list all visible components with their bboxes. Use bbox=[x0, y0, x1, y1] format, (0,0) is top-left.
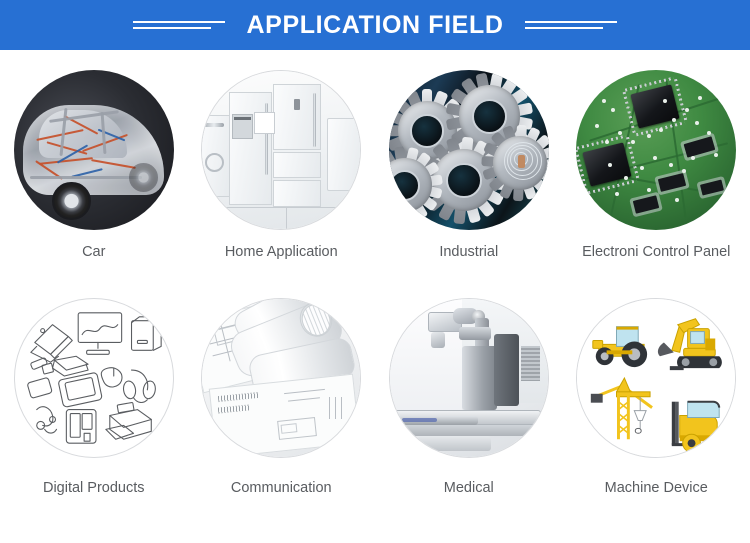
refrigerator-appliance-photo bbox=[201, 70, 361, 230]
double-line-rule-icon bbox=[525, 19, 617, 31]
gallery-item-home-application[interactable]: Home Application bbox=[188, 70, 376, 310]
car-wiring-harness-photo bbox=[14, 70, 174, 230]
x-ray-imaging-machine-photo bbox=[389, 298, 549, 458]
gallery-item-label: Electroni Control Panel bbox=[582, 244, 730, 261]
gallery-item-label: Home Application bbox=[225, 244, 338, 261]
gallery-item-car[interactable]: Car bbox=[0, 70, 188, 310]
page-header: APPLICATION FIELD bbox=[0, 0, 750, 50]
double-line-rule-icon bbox=[133, 19, 225, 31]
gallery-item-machine-device[interactable]: Machine Device bbox=[563, 298, 750, 538]
gallery-item-digital-products[interactable]: Digital Products bbox=[0, 298, 188, 538]
gallery-item-industrial[interactable]: Industrial bbox=[375, 70, 563, 310]
page-title: APPLICATION FIELD bbox=[247, 11, 504, 40]
gallery-item-label: Car bbox=[82, 244, 105, 261]
gallery-row: Car bbox=[0, 70, 750, 310]
blueprint-rolls-line-drawing bbox=[201, 298, 361, 458]
metal-gears-photo bbox=[389, 70, 549, 230]
gallery-item-electronic-control-panel[interactable]: Electroni Control Panel bbox=[563, 70, 750, 310]
gallery-item-communication[interactable]: Communication bbox=[188, 298, 376, 538]
application-field-page: APPLICATION FIELD bbox=[0, 0, 750, 543]
gallery-item-label: Medical bbox=[444, 480, 494, 497]
gallery-item-label: Digital Products bbox=[43, 480, 145, 497]
gallery-item-label: Machine Device bbox=[605, 480, 708, 497]
gallery-item-label: Industrial bbox=[439, 244, 498, 261]
gallery-row: Digital Products bbox=[0, 298, 750, 538]
green-pcb-circuit-board-photo bbox=[576, 70, 736, 230]
consumer-electronics-line-drawing bbox=[14, 298, 174, 458]
gallery-item-medical[interactable]: Medical bbox=[375, 298, 563, 538]
application-grid: Car bbox=[0, 50, 750, 543]
gallery-item-label: Communication bbox=[231, 480, 332, 497]
construction-vehicles-illustration bbox=[576, 298, 736, 458]
